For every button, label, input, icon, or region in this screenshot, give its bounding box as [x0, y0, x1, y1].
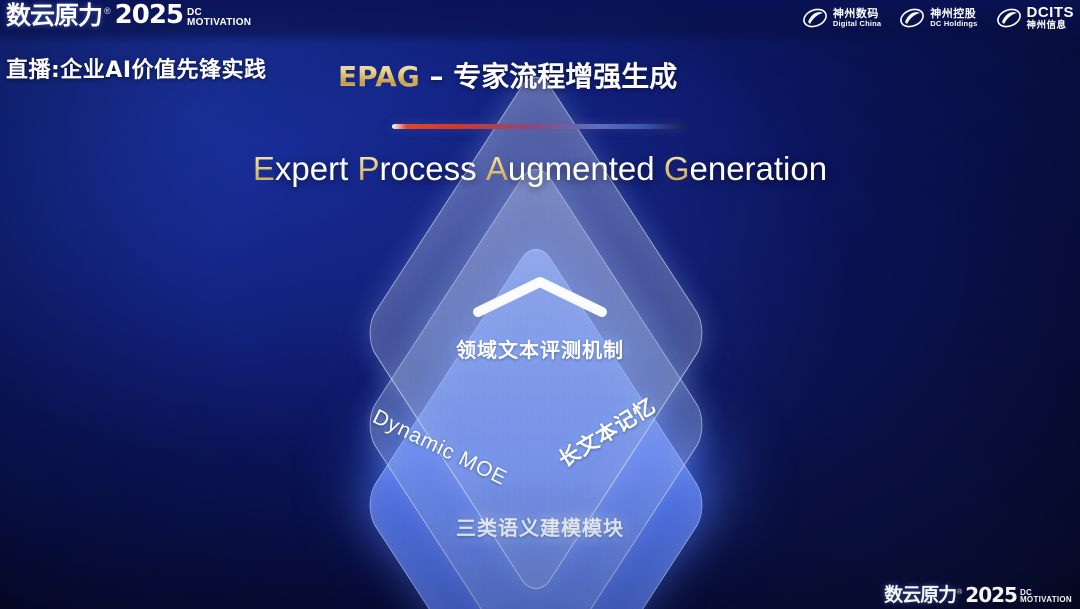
- partner-name-en: Digital China: [833, 20, 881, 28]
- brand-dc-motivation: DC MOTIVATION: [187, 8, 251, 27]
- partner-logo-text: 神州控股 DC Holdings: [930, 8, 977, 27]
- partner-name-cn: 神州控股: [930, 8, 977, 20]
- subhead-initial-a: A: [486, 150, 508, 187]
- partner-logo-dc-holdings: 神州控股 DC Holdings: [899, 7, 977, 29]
- subhead-word-augmented: ugmented: [508, 150, 655, 187]
- partner-logo-dcits: 神州信息 DCITS: [996, 5, 1075, 31]
- partner-name-cn: 神州数码: [833, 8, 881, 20]
- subhead-initial-g: G: [664, 150, 690, 187]
- swoosh-icon: [802, 7, 828, 29]
- brand-year: 2025: [115, 2, 183, 28]
- subhead-word-expert: xpert: [275, 150, 348, 187]
- headline-chinese: 专家流程增强生成: [453, 60, 677, 93]
- swoosh-icon: [899, 7, 925, 29]
- layer-top-label: 领域文本评测机制: [0, 334, 1080, 363]
- brand-logo-top: 数云原力 ® 2025 DC MOTIVATION: [6, 2, 251, 28]
- watermark-year: 2025: [965, 585, 1017, 605]
- chevron-up-icon: [472, 274, 608, 318]
- slide-subheadline: Expert Process Augmented Generation: [0, 150, 1080, 188]
- watermark-name-cn: 数云原力: [884, 586, 956, 605]
- live-stream-title: 直播:企业AI价值先锋实践: [6, 52, 267, 84]
- layer-bottom-label: 三类语义建模模块: [0, 512, 1080, 541]
- headline-acronym: EPAG: [338, 60, 420, 93]
- subhead-space-3: [655, 150, 664, 187]
- partner-logo-digital-china: 神州数码 Digital China: [802, 7, 881, 29]
- partner-logo-group: 神州数码 Digital China 神州控股 DC Holdings 神州信息…: [802, 5, 1074, 31]
- headline-dash: –: [420, 60, 454, 93]
- partner-logo-text: 神州数码 Digital China: [833, 8, 881, 27]
- subhead-word-process: rocess: [379, 150, 476, 187]
- subhead-space-2: [477, 150, 486, 187]
- partner-name-en: DCITS: [1027, 5, 1075, 21]
- brand-dc-line2: MOTIVATION: [187, 18, 251, 28]
- partner-logo-text: 神州信息 DCITS: [1027, 5, 1075, 31]
- partner-name-en: DC Holdings: [930, 20, 977, 28]
- watermark-registered-mark: ®: [957, 589, 962, 596]
- brand-watermark-bottom: 数云原力 ® 2025 DC MOTIVATION: [884, 585, 1072, 605]
- slide-headline: EPAG – 专家流程增强生成: [338, 55, 677, 95]
- subhead-word-generation: eneration: [689, 150, 827, 187]
- partner-name-cn: 神州信息: [1027, 21, 1075, 31]
- watermark-dc-line2: MOTIVATION: [1020, 596, 1072, 604]
- gradient-divider: [392, 124, 684, 129]
- subhead-initial-p: P: [357, 150, 379, 187]
- swoosh-icon: [996, 7, 1022, 29]
- watermark-dc-motivation: DC MOTIVATION: [1020, 589, 1072, 604]
- slide-canvas: 数云原力 ® 2025 DC MOTIVATION 直播:企业AI价值先锋实践 …: [0, 0, 1080, 609]
- subhead-initial-e: E: [253, 150, 275, 187]
- brand-name-cn: 数云原力: [6, 3, 102, 28]
- brand-registered-mark: ®: [104, 7, 111, 16]
